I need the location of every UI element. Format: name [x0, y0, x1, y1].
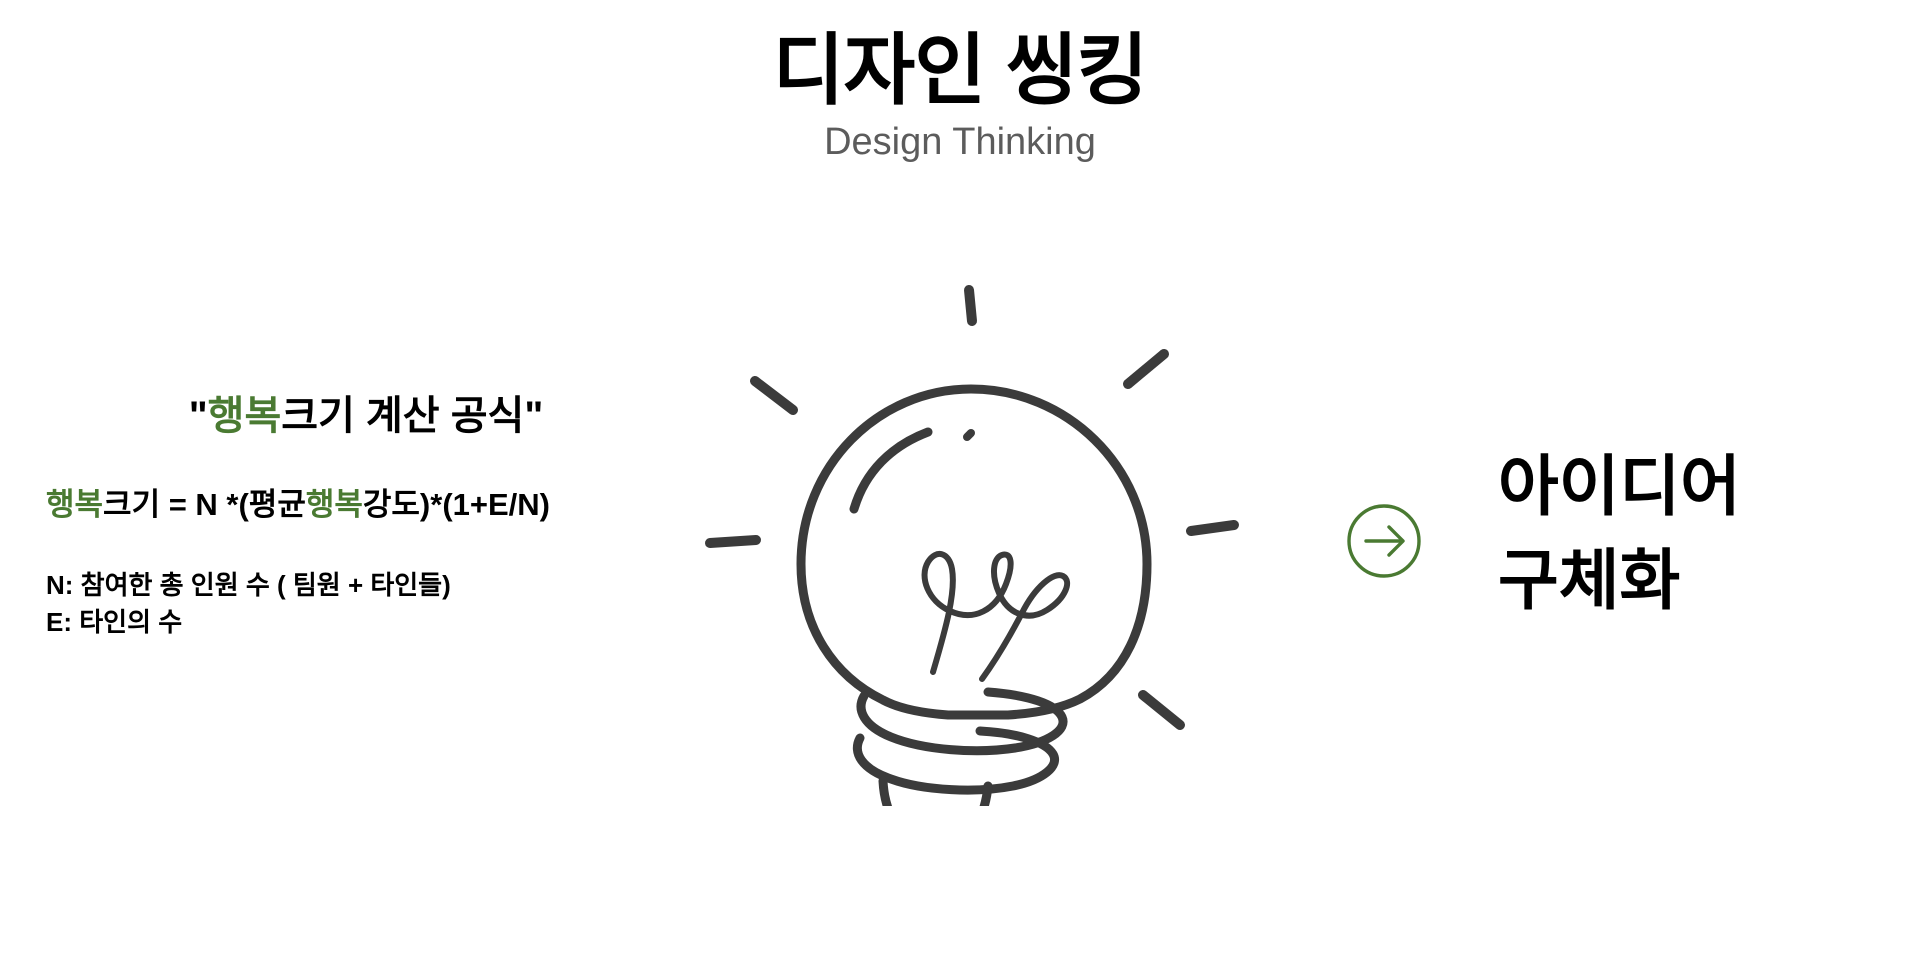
outcome-label: 아이디어 구체화 — [1498, 440, 1898, 627]
lightbulb-glass — [801, 389, 1147, 715]
equation-highlight-2: 행복 — [306, 487, 363, 522]
outcome-line-2: 구체화 — [1498, 534, 1898, 628]
lightbulb-icon — [688, 276, 1254, 806]
page-title: 디자인 씽킹 — [0, 28, 1920, 112]
formula-heading: "행복크기 계산 공식" — [46, 392, 686, 440]
slide-header: 디자인 씽킹 Design Thinking — [0, 28, 1920, 164]
equation-highlight-1: 행복 — [46, 487, 103, 522]
formula-heading-highlight: 행복 — [208, 394, 282, 438]
outcome-line-1: 아이디어 — [1498, 440, 1898, 534]
lightbulb-sparkle-dot — [967, 433, 971, 437]
formula-definitions: N: 참여한 총 인원 수 ( 팀원 + 타인들) E: 타인의 수 — [46, 567, 686, 641]
equation-segment-2: 강도)*(1+E/N) — [363, 487, 550, 522]
definition-e: E: 타인의 수 — [46, 604, 686, 641]
definition-n: N: 참여한 총 인원 수 ( 팀원 + 타인들) — [46, 567, 686, 604]
happiness-formula-block: "행복크기 계산 공식" 행복크기 = N *(평균행복강도)*(1+E/N) … — [46, 392, 686, 641]
arrow-right-circle-icon — [1345, 502, 1423, 580]
slide-canvas: 디자인 씽킹 Design Thinking "행복크기 계산 공식" 행복크기… — [0, 0, 1920, 980]
lightbulb-highlight — [854, 432, 928, 509]
formula-equation: 행복크기 = N *(평균행복강도)*(1+E/N) — [46, 486, 686, 525]
formula-heading-rest: 크기 계산 공식 — [281, 394, 524, 438]
formula-heading-quote-close: " — [524, 394, 543, 438]
lightbulb-rays — [710, 290, 1234, 725]
equation-segment-1: 크기 = N *(평균 — [103, 487, 306, 522]
formula-heading-quote-open: " — [189, 394, 208, 438]
lightbulb-filament — [925, 554, 1068, 679]
page-subtitle: Design Thinking — [0, 122, 1920, 164]
